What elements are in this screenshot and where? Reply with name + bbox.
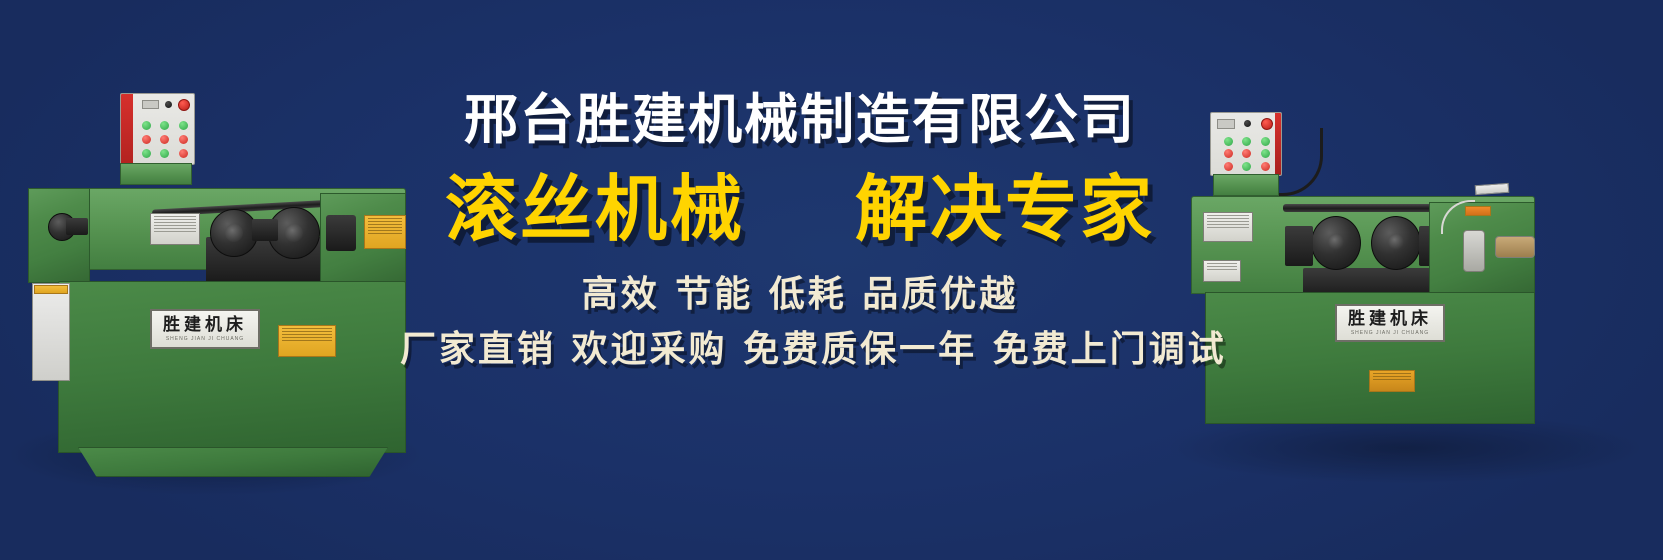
feed-tray [1475,183,1510,195]
die-hub [225,224,243,242]
panel-button[interactable] [1242,137,1251,146]
cabinet-label [34,285,68,294]
panel-button[interactable] [160,135,169,144]
subtitle-line-1: 高效 节能 低耗 品质优越 [400,275,1200,315]
brand-nameplate-left: 胜建机床 SHENG JIAN JI CHUANG [150,309,260,349]
banner-text-block: 邢台胜建机械制造有限公司 滚丝机械 解决专家 高效 节能 低耗 品质优越 厂家直… [400,92,1200,370]
brand-nameplate-right: 胜建机床 SHENG JIAN JI CHUANG [1335,304,1445,342]
panel-button-grid[interactable] [137,118,193,160]
panel-button-grid[interactable] [1219,135,1275,173]
panel-button[interactable] [142,149,151,158]
spec-plate-right [1203,212,1253,242]
panel-button[interactable] [1224,137,1233,146]
company-name: 邢台胜建机械制造有限公司 [400,92,1200,149]
panel-button[interactable] [1242,149,1251,158]
subtitle-line-2: 厂家直销 欢迎采购 免费质保一年 免费上门调试 [400,330,1200,370]
caution-label-left [278,325,336,357]
secondary-spec-plate [1203,260,1241,282]
panel-button[interactable] [160,121,169,130]
panel-button[interactable] [1224,149,1233,158]
brand-name-cn: 胜建机床 [163,317,247,334]
control-panel-right[interactable] [1210,112,1282,176]
panel-button[interactable] [1224,162,1233,171]
control-panel-left[interactable] [120,93,195,165]
brand-name-pinyin: SHENG JIAN JI CHUANG [166,337,244,342]
panel-button[interactable] [1261,162,1270,171]
panel-button[interactable] [1261,149,1270,158]
panel-button[interactable] [179,135,188,144]
machine-photo-right: 胜建机床 SHENG JIAN JI CHUANG [1175,108,1655,468]
panel-button[interactable] [142,121,151,130]
emergency-stop-button[interactable] [178,99,190,111]
panel-button[interactable] [179,121,188,130]
emergency-stop-button[interactable] [1261,118,1273,130]
panel-pedestal [120,163,192,185]
brand-name-pinyin: SHENG JIAN JI CHUANG [1351,331,1429,336]
machine-main-body [58,281,406,453]
panel-button[interactable] [160,149,169,158]
side-cabinet [32,283,70,381]
spec-plate-left [150,213,200,245]
panel-display [142,100,159,109]
die-hub [1328,234,1344,250]
selector-knob-icon[interactable] [1244,120,1251,127]
headline-left: 滚丝机械 [445,173,745,245]
machine-base [78,447,388,477]
die-hub [285,224,303,242]
panel-button[interactable] [1261,137,1270,146]
center-coupling [252,219,278,241]
panel-button[interactable] [142,135,151,144]
brass-fixture-plate [1495,236,1535,258]
headline-row: 滚丝机械 解决专家 [400,173,1200,245]
hydraulic-cylinder [1463,230,1485,272]
panel-button[interactable] [1242,162,1251,171]
promotional-banner: 胜建机床 SHENG JIAN JI CHUANG 邢台胜建机械制造有限公司 滚… [0,0,1663,560]
caution-label-right [1369,370,1415,392]
panel-display [1217,119,1235,129]
headline-right: 解决专家 [855,173,1155,245]
spindle-block [66,218,88,235]
selector-knob-icon[interactable] [165,101,172,108]
panel-pedestal [1213,174,1279,196]
panel-red-stripe [121,94,133,164]
panel-button[interactable] [179,149,188,158]
control-hose [1279,128,1323,196]
machine-photo-left: 胜建机床 SHENG JIAN JI CHUANG [20,85,410,475]
brand-name-cn: 胜建机床 [1348,311,1432,328]
drive-housing [326,215,356,251]
die-hub [1388,234,1404,250]
die-holder-left [1285,226,1313,266]
